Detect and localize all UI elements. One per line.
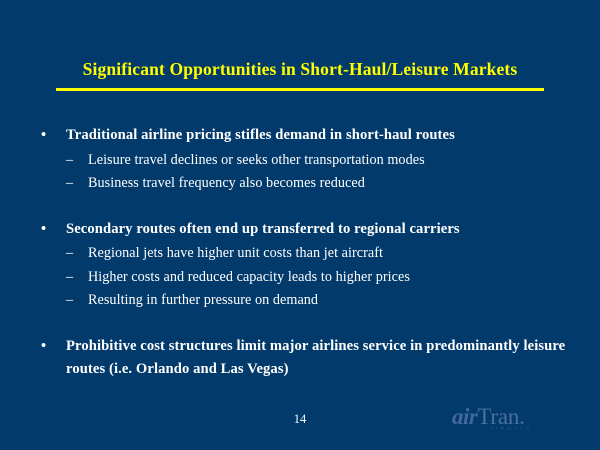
- title-underline-rule: [56, 88, 544, 91]
- bullet-group: • Traditional airline pricing stifles de…: [0, 124, 600, 196]
- bullet-list: • Traditional airline pricing stifles de…: [0, 124, 600, 382]
- slide: Significant Opportunities in Short-Haul/…: [0, 0, 600, 450]
- sub-bullet-item: – Leisure travel declines or seeks other…: [0, 149, 600, 173]
- title-block: Significant Opportunities in Short-Haul/…: [0, 58, 600, 80]
- airtran-logo: airTran. AIRWAYS: [452, 404, 556, 438]
- bullet-text: Secondary routes often end up transferre…: [66, 221, 460, 237]
- dash-marker-icon: –: [66, 266, 73, 290]
- sub-bullet-item: – Resulting in further pressure on deman…: [0, 289, 600, 313]
- bullet-marker-icon: •: [41, 124, 46, 148]
- dash-marker-icon: –: [66, 172, 73, 196]
- bullet-item: • Traditional airline pricing stifles de…: [0, 124, 600, 148]
- bullet-item: • Prohibitive cost structures limit majo…: [0, 335, 600, 382]
- bullet-marker-icon: •: [41, 218, 46, 242]
- sub-bullet-item: – Regional jets have higher unit costs t…: [0, 242, 600, 266]
- bullet-text: Traditional airline pricing stifles dema…: [66, 127, 455, 143]
- logo-tagline: AIRWAYS: [490, 426, 532, 431]
- sub-bullet-list: – Regional jets have higher unit costs t…: [0, 242, 600, 313]
- sub-bullet-item: – Higher costs and reduced capacity lead…: [0, 266, 600, 290]
- sub-bullet-text: Regional jets have higher unit costs tha…: [88, 245, 383, 261]
- bullet-marker-icon: •: [41, 335, 46, 359]
- page-title: Significant Opportunities in Short-Haul/…: [83, 58, 518, 80]
- sub-bullet-text: Business travel frequency also becomes r…: [88, 175, 365, 191]
- dash-marker-icon: –: [66, 149, 73, 173]
- sub-bullet-text: Resulting in further pressure on demand: [88, 292, 318, 308]
- sub-bullet-text: Leisure travel declines or seeks other t…: [88, 152, 425, 168]
- bullet-group: • Secondary routes often end up transfer…: [0, 218, 600, 313]
- sub-bullet-item: – Business travel frequency also becomes…: [0, 172, 600, 196]
- sub-bullet-list: – Leisure travel declines or seeks other…: [0, 149, 600, 196]
- logo-air-text: air: [452, 404, 477, 429]
- bullet-group: • Prohibitive cost structures limit majo…: [0, 335, 600, 382]
- bullet-item: • Secondary routes often end up transfer…: [0, 218, 600, 242]
- sub-bullet-text: Higher costs and reduced capacity leads …: [88, 269, 410, 285]
- bullet-text: Prohibitive cost structures limit major …: [66, 338, 565, 378]
- dash-marker-icon: –: [66, 289, 73, 313]
- dash-marker-icon: –: [66, 242, 73, 266]
